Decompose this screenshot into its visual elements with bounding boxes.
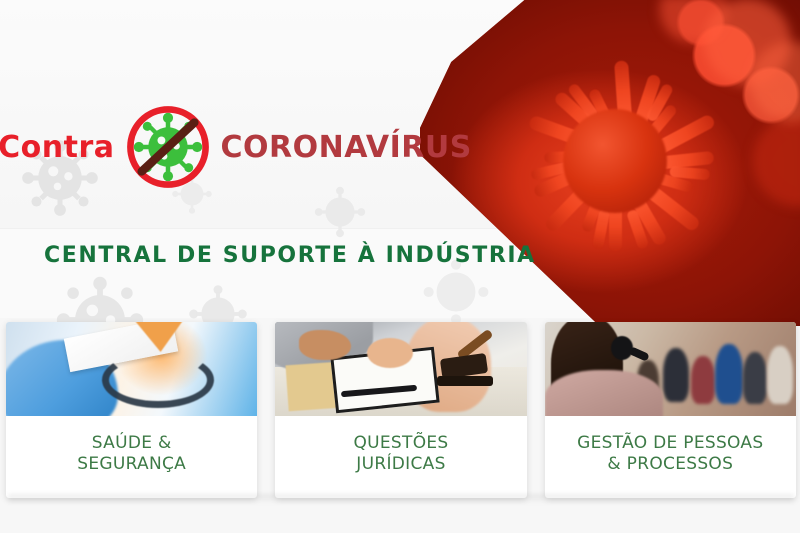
hand-left-shape [299,330,351,360]
logo-word-contra: Contra [0,130,115,165]
health-safety-photo [6,322,257,416]
brand-logo-lockup: Contra CORONAVÍRUS [0,112,470,182]
logo-word-coronavirus: CORONAVÍRUS [221,130,472,165]
topic-card-label: SAÚDE & SEGURANÇA [6,416,257,498]
speaker-shoulder-shape [545,370,663,416]
audience-figure [663,348,689,402]
audience-figure [743,352,767,404]
audience-figure [715,344,743,404]
topic-card-list: SAÚDE & SEGURANÇA QUESTÕES JURÍDICAS [6,322,796,498]
audience-figure [767,346,793,404]
page-subtitle: CENTRAL DE SUPORTE À INDÚSTRIA [44,243,536,268]
orange-highlight-shape [133,322,186,353]
no-virus-prohibition-icon [121,100,215,194]
legal-matters-photo [275,322,526,416]
coronavirus-support-banner: Contra CORONAVÍRUS [0,0,800,533]
microphone-shape [611,336,633,360]
topic-card-health-safety[interactable]: SAÚDE & SEGURANÇA [6,322,257,498]
virus-core [563,109,667,213]
audience-figure [691,356,715,404]
gavel-base-shape [437,376,493,386]
topic-card-people-process[interactable]: GESTÃO DE PESSOAS & PROCESSOS [545,322,796,498]
topic-card-label: GESTÃO DE PESSOAS & PROCESSOS [545,416,796,498]
topic-card-label: QUESTÕES JURÍDICAS [275,416,526,498]
hand-right-shape [367,338,413,368]
people-process-photo [545,322,796,416]
stethoscope-shape [102,352,214,408]
topic-card-legal-matters[interactable]: QUESTÕES JURÍDICAS [275,322,526,498]
